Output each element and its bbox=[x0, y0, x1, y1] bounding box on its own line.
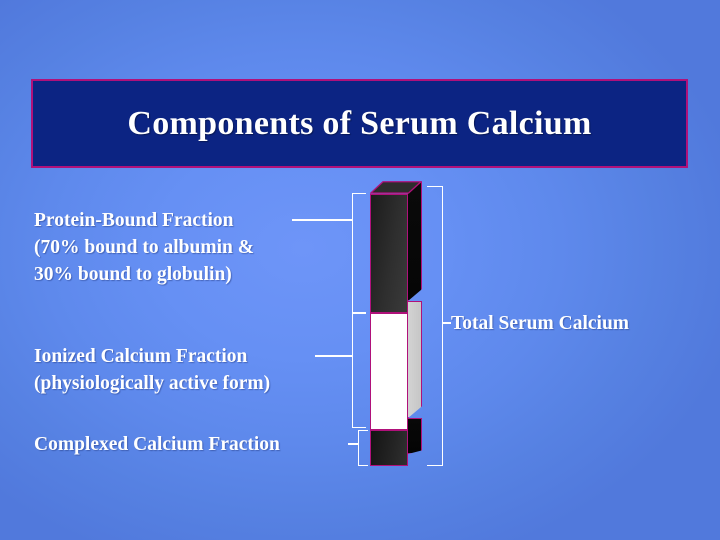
page-title: Components of Serum Calcium bbox=[127, 107, 591, 141]
bar-segment-protein-bound-front bbox=[370, 194, 408, 313]
label-ionized-line2: (physiologically active form) bbox=[34, 370, 270, 397]
bracket-total-serum-calcium bbox=[427, 186, 443, 466]
label-ionized-line1: Ionized Calcium Fraction bbox=[34, 343, 270, 370]
bracket-ionized-segment bbox=[352, 313, 366, 428]
bar-segment-protein-bound-side bbox=[408, 182, 422, 301]
bracket-complexed-segment bbox=[358, 430, 368, 466]
bar-segment-complexed-front bbox=[370, 430, 408, 466]
stacked-bar-chart bbox=[370, 181, 422, 467]
bar-segment-ionized-front bbox=[370, 313, 408, 430]
bar-segment-complexed-side bbox=[408, 418, 422, 454]
slide-canvas: Components of Serum Calcium Protein-Boun… bbox=[0, 0, 720, 540]
bar-top-cap bbox=[370, 181, 422, 194]
label-protein-bound-line1: Protein-Bound Fraction bbox=[34, 207, 254, 234]
title-banner: Components of Serum Calcium bbox=[31, 79, 688, 168]
bracket-tick-complexed bbox=[349, 443, 359, 445]
bracket-protein-bound-segment bbox=[352, 193, 366, 313]
label-protein-bound-line3: 30% bound to globulin) bbox=[34, 261, 254, 288]
label-protein-bound-fraction: Protein-Bound Fraction (70% bound to alb… bbox=[34, 207, 254, 288]
bar-segment-ionized-side bbox=[408, 301, 422, 418]
label-complexed-line1: Complexed Calcium Fraction bbox=[34, 431, 280, 458]
label-total-serum-calcium: Total Serum Calcium bbox=[451, 310, 629, 337]
label-ionized-calcium-fraction: Ionized Calcium Fraction (physiologicall… bbox=[34, 343, 270, 397]
label-protein-bound-line2: (70% bound to albumin & bbox=[34, 234, 254, 261]
label-total-line1: Total Serum Calcium bbox=[451, 310, 629, 337]
bracket-tick-ionized bbox=[341, 355, 353, 357]
label-complexed-calcium-fraction: Complexed Calcium Fraction bbox=[34, 431, 280, 458]
bracket-tick-total bbox=[442, 322, 451, 324]
bracket-tick-protein-bound bbox=[341, 219, 353, 221]
